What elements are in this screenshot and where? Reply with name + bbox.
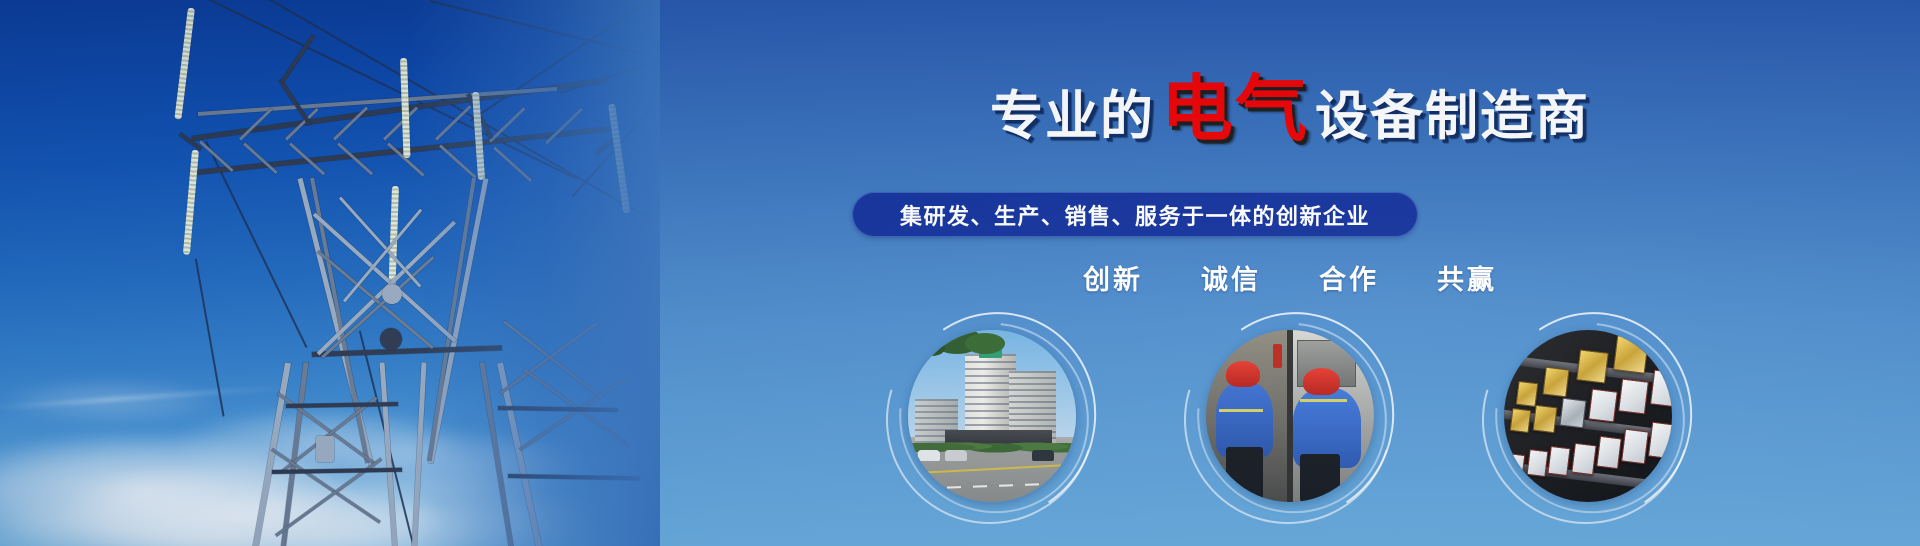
transmission-tower-photo [0,0,660,546]
keyword-row: 创新 诚信 合作 共赢 [660,258,1920,297]
circle-office-building[interactable] [886,312,1098,524]
circle-workers[interactable] [1184,312,1396,524]
headline: 专业的电气设备制造商 [660,74,1920,146]
keyword-winwin: 共赢 [1437,258,1497,297]
promotional-banner: 专业的电气设备制造商 集研发、生产、销售、服务于一体的创新企业 创新 诚信 合作… [0,0,1920,546]
banner-content: 专业的电气设备制造商 集研发、生产、销售、服务于一体的创新企业 创新 诚信 合作… [660,0,1920,546]
office-building-photo [908,330,1076,502]
keyword-innovation: 创新 [1083,258,1143,297]
tagline-pill: 集研发、生产、销售、服务于一体的创新企业 [852,192,1418,237]
keyword-cooperation: 合作 [1319,258,1379,297]
circle-certificates[interactable] [1482,312,1694,524]
tagline-text: 集研发、生产、销售、服务于一体的创新企业 [900,199,1370,231]
keyword-integrity: 诚信 [1201,258,1261,297]
workers-electrical-cabinet-photo [1206,330,1374,502]
circle-photo-row [660,312,1920,524]
headline-segment-emphasis: 电气 [1161,70,1309,150]
certificate-wall-photo [1504,330,1672,502]
photo-edge-fade [410,0,660,546]
headline-segment-suffix: 设备制造商 [1315,87,1590,146]
headline-segment-prefix: 专业的 [990,87,1155,146]
